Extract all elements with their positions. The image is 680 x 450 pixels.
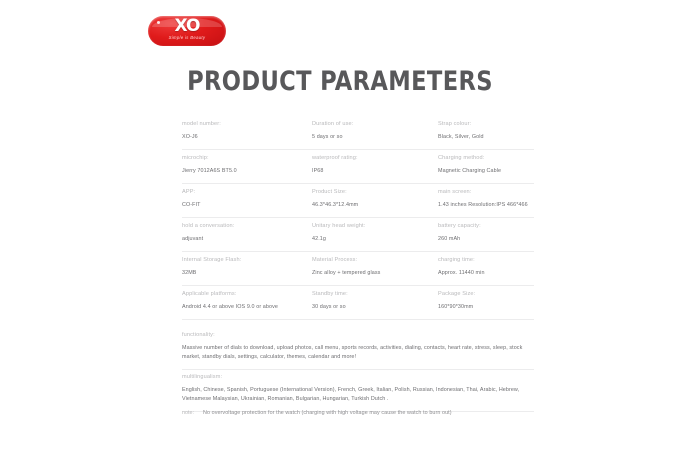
- spec-label: main screen:: [438, 184, 534, 195]
- logo-badge: XO Simple is Beauty: [148, 16, 226, 46]
- spec-label: Strap colour:: [438, 116, 534, 127]
- table-row: APP: CO-FIT Product Size: 46.3*46.3*12.4…: [182, 184, 534, 218]
- spec-label: Applicable platforms:: [182, 286, 312, 297]
- spec-value: Jierry 7012A6S BT5.0: [182, 161, 312, 174]
- spec-value: XO-J6: [182, 127, 312, 140]
- spec-cell: Product Size: 46.3*46.3*12.4mm: [312, 184, 438, 217]
- specs-table: model number: XO-J6 Duration of use: 5 d…: [182, 116, 534, 320]
- multilingualism-label: multilingualism:: [182, 368, 534, 380]
- product-parameters-page: XO Simple is Beauty PRODUCT PARAMETERS m…: [0, 0, 680, 450]
- spec-cell: charging time: Approx. 11440 min: [438, 252, 534, 285]
- spec-label: Material Process:: [312, 252, 438, 263]
- spec-cell: Material Process: Zinc alloy + tempered …: [312, 252, 438, 285]
- table-row: Applicable platforms: Android 4.4 or abo…: [182, 286, 534, 320]
- spec-label: model number:: [182, 116, 312, 127]
- spec-cell: microchip: Jierry 7012A6S BT5.0: [182, 150, 312, 183]
- spec-cell: Unitary head weight: 42.1g: [312, 218, 438, 251]
- spec-value: CO-FIT: [182, 195, 312, 208]
- spec-value: Approx. 11440 min: [438, 263, 534, 276]
- page-title: PRODUCT PARAMETERS: [24, 66, 656, 97]
- spec-cell: Strap colour: Black, Silver, Gold: [438, 116, 534, 149]
- spec-cell: Charging method: Magnetic Charging Cable: [438, 150, 534, 183]
- spec-value: Android 4.4 or above IOS 9.0 or above: [182, 297, 312, 310]
- spec-cell: Standby time: 30 days or so: [312, 286, 438, 319]
- spec-label: waterproof rating:: [312, 150, 438, 161]
- spec-label: Charging method:: [438, 150, 534, 161]
- spec-cell: APP: CO-FIT: [182, 184, 312, 217]
- note-label: note:: [182, 410, 194, 416]
- spec-value: Magnetic Charging Cable: [438, 161, 534, 174]
- note-text: No overvoltage protection for the watch …: [203, 410, 452, 416]
- spec-value: 5 days or so: [312, 127, 438, 140]
- spec-cell: Duration of use: 5 days or so: [312, 116, 438, 149]
- spec-value: Black, Silver, Gold: [438, 127, 534, 140]
- spec-value: adjuvant: [182, 229, 312, 242]
- spec-label: Duration of use:: [312, 116, 438, 127]
- spec-cell: hold a conversation: adjuvant: [182, 218, 312, 251]
- spec-value: IP68: [312, 161, 438, 174]
- table-row: Internal Storage Flash: 32MB Material Pr…: [182, 252, 534, 286]
- spec-value: 30 days or so: [312, 297, 438, 310]
- multilingualism-section: multilingualism: English, Chinese, Spani…: [182, 368, 534, 412]
- spec-cell: Applicable platforms: Android 4.4 or abo…: [182, 286, 312, 319]
- spec-label: Product Size:: [312, 184, 438, 195]
- functionality-label: functionality:: [182, 326, 534, 338]
- spec-cell: Internal Storage Flash: 32MB: [182, 252, 312, 285]
- spec-cell: battery capacity: 260 mAh: [438, 218, 534, 251]
- spec-cell: main screen: 1.43 inches Resolution:IPS …: [438, 184, 534, 217]
- spec-value: Zinc alloy + tempered glass: [312, 263, 438, 276]
- functionality-section: functionality: Massive number of dials t…: [182, 326, 534, 370]
- spec-cell: Package Size: 160*90*30mm: [438, 286, 534, 319]
- multilingualism-text: English, Chinese, Spanish, Portuguese (I…: [182, 380, 534, 411]
- note-section: note: No overvoltage protection for the …: [182, 410, 534, 416]
- spec-label: Internal Storage Flash:: [182, 252, 312, 263]
- spec-label: Standby time:: [312, 286, 438, 297]
- spec-cell: waterproof rating: IP68: [312, 150, 438, 183]
- brand-logo: XO Simple is Beauty: [148, 16, 226, 46]
- spec-label: APP:: [182, 184, 312, 195]
- table-row: microchip: Jierry 7012A6S BT5.0 waterpro…: [182, 150, 534, 184]
- spec-label: Package Size:: [438, 286, 534, 297]
- spec-label: charging time:: [438, 252, 534, 263]
- spec-label: Unitary head weight:: [312, 218, 438, 229]
- table-row: hold a conversation: adjuvant Unitary he…: [182, 218, 534, 252]
- logo-tagline: Simple is Beauty: [148, 35, 226, 40]
- spec-label: hold a conversation:: [182, 218, 312, 229]
- spec-cell: model number: XO-J6: [182, 116, 312, 149]
- logo-wordmark: XO: [148, 18, 226, 35]
- spec-label: microchip:: [182, 150, 312, 161]
- spec-value: 42.1g: [312, 229, 438, 242]
- spec-value: 260 mAh: [438, 229, 534, 242]
- spec-value: 46.3*46.3*12.4mm: [312, 195, 438, 208]
- spec-value: 1.43 inches Resolution:IPS 466*466: [438, 195, 534, 208]
- functionality-text: Massive number of dials to download, upl…: [182, 338, 534, 369]
- spec-value: 32MB: [182, 263, 312, 276]
- table-row: model number: XO-J6 Duration of use: 5 d…: [182, 116, 534, 150]
- spec-label: battery capacity:: [438, 218, 534, 229]
- spec-value: 160*90*30mm: [438, 297, 534, 310]
